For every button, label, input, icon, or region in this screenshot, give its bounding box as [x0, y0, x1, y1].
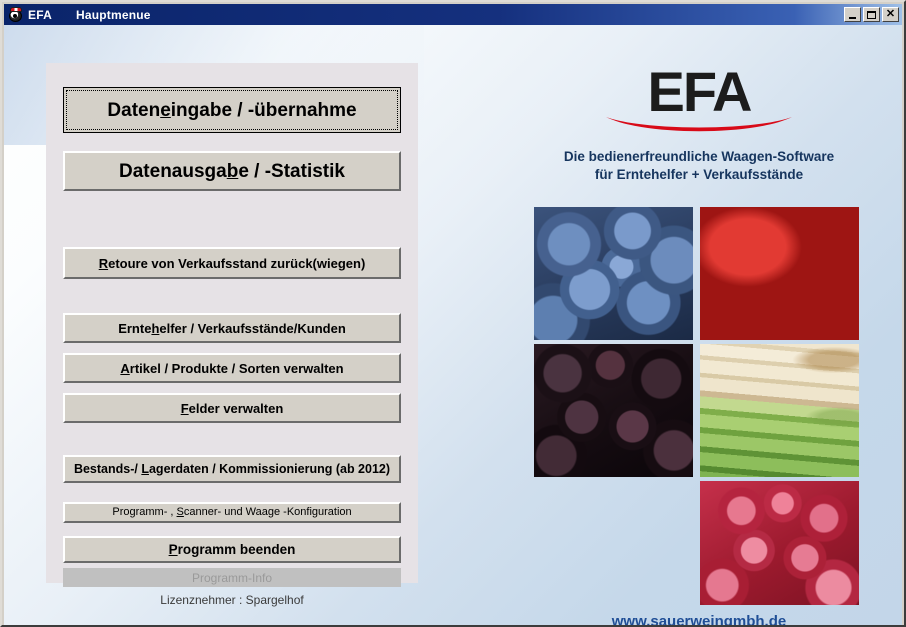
button-retoure-label: Retoure von Verkaufsstand zurück(wiegen): [99, 257, 366, 270]
window-controls: ✕: [844, 7, 900, 22]
button-artikel-label: Artikel / Produkte / Sorten verwalten: [120, 362, 343, 375]
button-bestandsdaten-label: Bestands-/ Lagerdaten / Kommissionierung…: [74, 463, 390, 476]
application-window: EFA Hauptmenue ✕ Dateneingabe / -übernah…: [0, 0, 906, 627]
button-retoure[interactable]: Retoure von Verkaufsstand zurück(wiegen): [63, 247, 401, 279]
button-dateneingabe-label: Dateneingabe / -übernahme: [107, 101, 356, 120]
scale-cap-icon: [10, 7, 22, 12]
button-datenausgabe-label: Datenausgabe / -Statistik: [119, 162, 345, 181]
button-bestandsdaten[interactable]: Bestands-/ Lagerdaten / Kommissionierung…: [63, 455, 401, 483]
title-bar[interactable]: EFA Hauptmenue ✕: [4, 4, 902, 25]
photo-strawberries: [700, 207, 859, 340]
tagline-line-2: für Erntehelfer + Verkaufsstände: [514, 166, 884, 184]
app-name-label: EFA: [28, 8, 52, 22]
focus-rect: Dateneingabe / -übernahme: [66, 90, 398, 130]
button-programm-info-label: Programm-Info: [192, 571, 272, 585]
minimize-button[interactable]: [844, 7, 861, 22]
product-photo-grid: [534, 207, 859, 605]
app-scale-icon[interactable]: [8, 7, 24, 23]
main-menu-panel: Dateneingabe / -übernahme Datenausgabe /…: [46, 63, 418, 583]
client-area: Dateneingabe / -übernahme Datenausgabe /…: [4, 25, 902, 625]
button-felder[interactable]: Felder verwalten: [63, 393, 401, 423]
photo-asparagus: [700, 344, 859, 477]
button-erntehelfer-label: Erntehelfer / Verkaufsstände/Kunden: [118, 322, 346, 335]
branding-block: EFA Die bedienerfreundliche Waagen-Softw…: [514, 65, 884, 185]
maximize-icon: [867, 11, 876, 19]
photo-blackberries: [534, 344, 693, 477]
button-konfiguration-label: Programm- , Scanner- und Waage -Konfigur…: [112, 507, 351, 518]
button-programm-info: Programm-Info: [63, 568, 401, 587]
button-felder-label: Felder verwalten: [181, 402, 284, 415]
efa-logo-text: EFA: [514, 65, 884, 118]
photo-raspberries: [700, 481, 859, 605]
button-artikel[interactable]: Artikel / Produkte / Sorten verwalten: [63, 353, 401, 383]
minimize-icon: [849, 17, 856, 19]
photo-gooseberries: [534, 481, 693, 605]
photo-blueberries: [534, 207, 693, 340]
maximize-button[interactable]: [863, 7, 880, 22]
tagline-line-1: Die bedienerfreundliche Waagen-Software: [514, 148, 884, 166]
button-programm-beenden-label: Programm beenden: [169, 543, 296, 557]
red-swoosh-icon: [604, 116, 794, 138]
website-link[interactable]: www.sauerweingmbh.de: [514, 613, 884, 625]
button-programm-beenden[interactable]: Programm beenden: [63, 536, 401, 563]
button-erntehelfer[interactable]: Erntehelfer / Verkaufsstände/Kunden: [63, 313, 401, 343]
button-datenausgabe[interactable]: Datenausgabe / -Statistik: [63, 151, 401, 191]
close-button[interactable]: ✕: [882, 7, 899, 22]
button-konfiguration[interactable]: Programm- , Scanner- und Waage -Konfigur…: [63, 502, 401, 523]
tagline-block: Die bedienerfreundliche Waagen-Software …: [514, 148, 884, 184]
button-dateneingabe[interactable]: Dateneingabe / -übernahme: [63, 87, 401, 133]
close-icon: ✕: [886, 9, 895, 20]
window-title-label: Hauptmenue: [76, 8, 151, 22]
licensee-label: Lizenznehmer : Spargelhof: [63, 593, 401, 607]
